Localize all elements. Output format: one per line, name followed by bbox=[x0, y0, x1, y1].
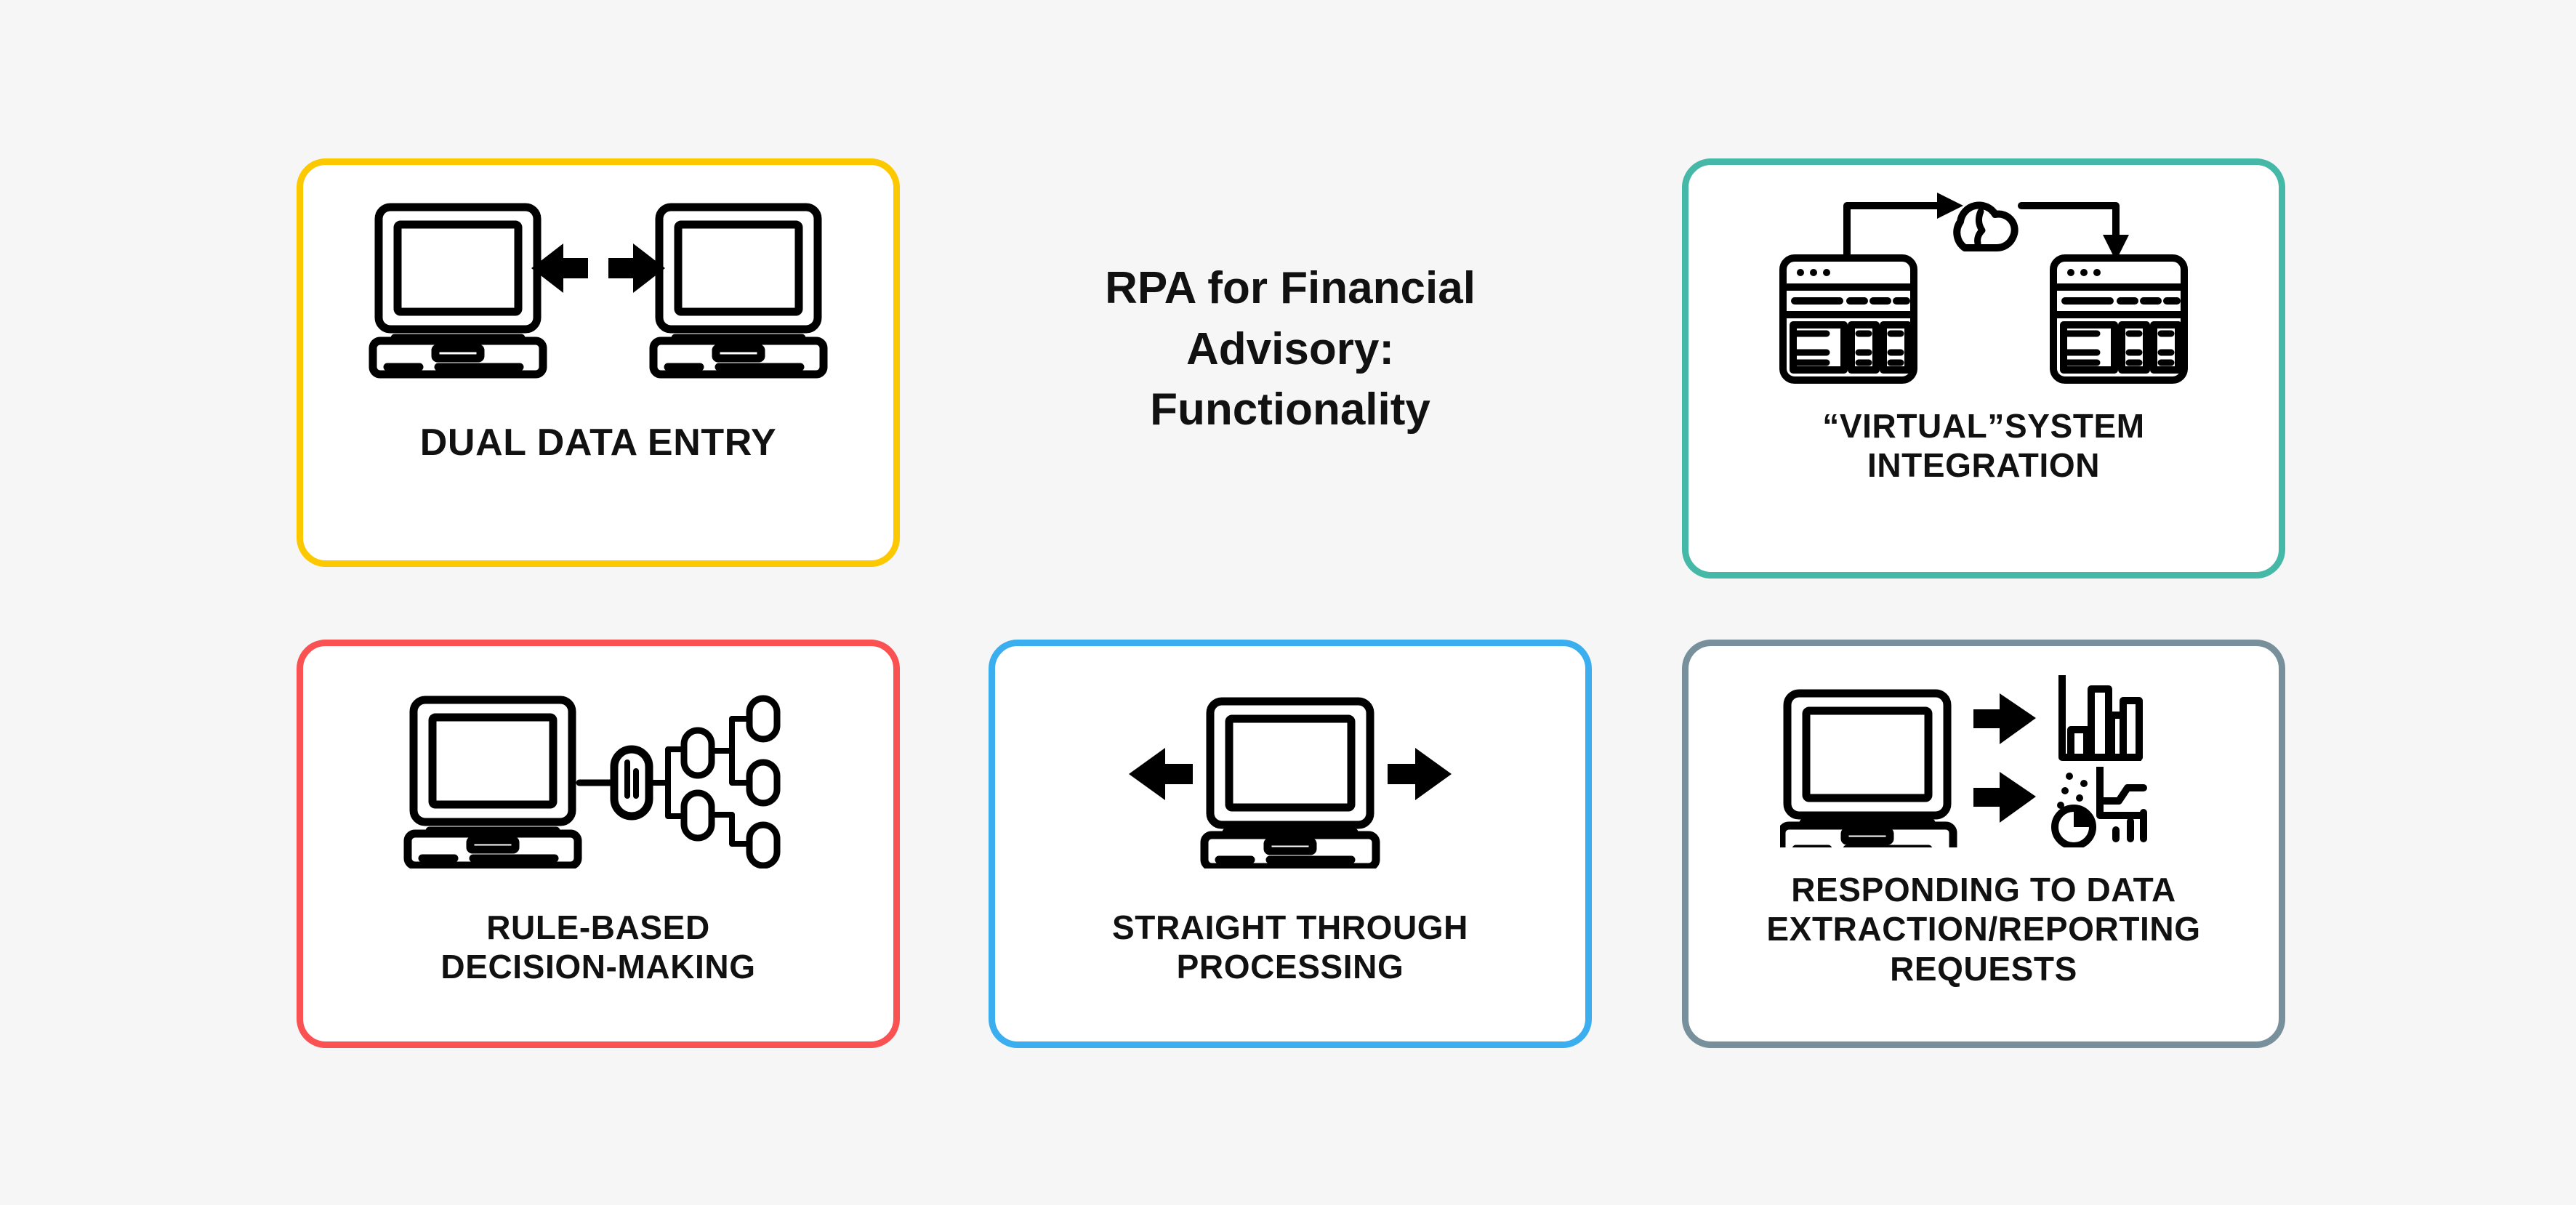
card-dual-data-entry[interactable]: DUAL DATA ENTRY bbox=[297, 158, 900, 567]
label-line-1: “VIRTUAL”SYSTEM bbox=[1712, 406, 2255, 446]
card-virtual-system-integration[interactable]: “VIRTUAL”SYSTEM INTEGRATION bbox=[1682, 158, 2285, 579]
page-title-line-2: Advisory: bbox=[989, 319, 1592, 380]
card-label-dual-data-entry: DUAL DATA ENTRY bbox=[326, 421, 869, 465]
monitor-with-bidirectional-arrows-icon bbox=[995, 680, 1585, 876]
label-line-2: INTEGRATION bbox=[1712, 446, 2255, 485]
card-label-virtual-system-integration: “VIRTUAL”SYSTEM INTEGRATION bbox=[1712, 406, 2255, 485]
card-label-rule-based-decision-making: RULE-BASED DECISION-MAKING bbox=[326, 908, 869, 987]
arrow-to-bar-chart bbox=[1973, 693, 2036, 744]
card-label-responding-to-data-requests: RESPONDING TO DATA EXTRACTION/REPORTING … bbox=[1712, 870, 2255, 988]
label-line-2: PROCESSING bbox=[1018, 947, 1561, 986]
left-arrow bbox=[1129, 748, 1193, 800]
label-line-1: RULE-BASED bbox=[326, 908, 869, 947]
page-title: RPA for Financial Advisory: Functionalit… bbox=[989, 258, 1592, 440]
two-browser-windows-with-cloud-icon bbox=[1689, 180, 2279, 390]
cloud-shape bbox=[1957, 205, 2014, 248]
label-line-1: STRAIGHT THROUGH bbox=[1018, 908, 1561, 947]
card-label-straight-through-processing: STRAIGHT THROUGH PROCESSING bbox=[1018, 908, 1561, 987]
label-line-2: EXTRACTION/REPORTING bbox=[1712, 909, 2255, 948]
label-line-1: RESPONDING TO DATA bbox=[1712, 870, 2255, 909]
analytics-icon bbox=[2055, 770, 2144, 846]
label-line-2: DECISION-MAKING bbox=[326, 947, 869, 986]
card-responding-to-data-requests[interactable]: RESPONDING TO DATA EXTRACTION/REPORTING … bbox=[1682, 640, 2285, 1048]
arrow-to-analytics bbox=[1973, 772, 2036, 823]
right-arrow bbox=[1388, 748, 1452, 800]
page-title-line-1: RPA for Financial bbox=[989, 258, 1592, 319]
monitor-with-charts-icon bbox=[1689, 669, 2279, 851]
monitor-with-decision-tree-icon bbox=[303, 680, 893, 876]
two-monitors-with-facing-arrows-icon bbox=[303, 181, 893, 399]
card-rule-based-decision-making[interactable]: RULE-BASED DECISION-MAKING bbox=[297, 640, 900, 1048]
card-straight-through-processing[interactable]: STRAIGHT THROUGH PROCESSING bbox=[989, 640, 1592, 1048]
bar-chart-icon bbox=[2062, 679, 2139, 757]
label-line-3: REQUESTS bbox=[1712, 949, 2255, 988]
infographic-canvas: DUAL DATA ENTRY RPA for Financial Adviso… bbox=[0, 0, 2576, 1205]
page-title-line-3: Functionality bbox=[989, 379, 1592, 440]
